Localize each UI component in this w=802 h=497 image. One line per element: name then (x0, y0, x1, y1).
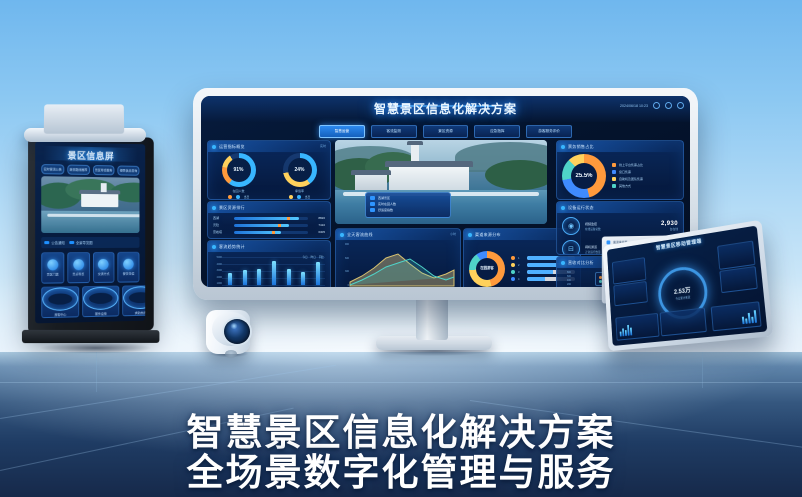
y-axis: 5000 4000 3000 2000 1000 (211, 256, 222, 285)
tooltip-row: 舒适度指数 (370, 208, 446, 212)
legend-row: 其他方式 (612, 184, 678, 188)
dashboard-title: 智慧景区信息化解决方案 (201, 100, 690, 117)
panel-title: 客流趋势统计 (219, 244, 245, 250)
gauge-value: 91% (233, 167, 243, 173)
kiosk-nav-item[interactable]: 便民信息查询 (118, 165, 140, 175)
scenic-photo: 西湖景区 实时在园人数 舒适度指数 (335, 140, 547, 224)
y-tick: 4000 (211, 263, 222, 266)
ticket-icon (47, 259, 58, 270)
panel-corner-label: 小时 (450, 232, 456, 236)
camera-icon: ◉ (562, 217, 580, 235)
donut-center-value: 25.5% (575, 173, 592, 179)
people-icon (370, 202, 375, 206)
legend-label: 当日 (305, 195, 311, 199)
tablet-sparkline (741, 309, 757, 324)
rank-row: 雷峰塔 6305 (213, 230, 325, 234)
comfort-icon (370, 208, 375, 212)
panel-realtime-overview: 运营指标概览 实时 91% 在园人数 当日 (207, 140, 331, 200)
panel-header: 运营指标概览 (208, 141, 330, 152)
row-index: 2 (518, 264, 524, 267)
tab-resources[interactable]: 景区资源 (423, 125, 469, 138)
camera-head (212, 312, 250, 346)
list-icon (44, 241, 49, 244)
kpi-sub: 在线设备总数 (585, 227, 601, 231)
status-dot-icon (212, 245, 216, 249)
gauge-sub: 在园人数 (232, 189, 244, 193)
kiosk-tile-label: 交通方式 (98, 272, 110, 276)
gauge-sub: 承载率 (295, 189, 304, 193)
kiosk-icon-grid-row1: 景区门票 景点导览 交通方式 餐饮住宿 (41, 252, 139, 284)
kiosk-nav-item[interactable]: 实时客流公告 (41, 164, 64, 175)
legend-row: 自助机及团队售票 (612, 177, 678, 181)
area-chart-svg (336, 240, 460, 287)
legend-swatch (289, 195, 293, 199)
kiosk-tile-label: 游客中心 (54, 313, 66, 317)
rank-row: 灵隐 7410 (213, 223, 325, 227)
rank-bar (234, 231, 308, 234)
bar-chart: 今日 昨日 同比 5000 4000 3000 2000 1000 (208, 252, 330, 287)
rank-name: 灵隐 (213, 223, 231, 227)
tooltip-title: 西湖景区 (378, 196, 390, 200)
tablet-card[interactable] (613, 281, 648, 306)
tablet-card[interactable] (660, 307, 707, 336)
tablet-card[interactable] (612, 257, 646, 284)
kiosk-nav-item[interactable]: 景区导览服务 (92, 165, 114, 175)
y-tick: 200 (560, 283, 571, 286)
floor-line (0, 382, 802, 383)
tablet-stand (44, 104, 124, 133)
tooltip-label: 舒适度指数 (378, 208, 393, 212)
kiosk-tile[interactable]: 求助热线 (122, 285, 145, 316)
panel-header: 票务销售占比 (557, 141, 683, 152)
kiosk-nav-item[interactable]: 游览路线推荐 (67, 165, 90, 175)
kpi-label: 视频监控 (585, 222, 601, 226)
photo-pagoda (411, 143, 419, 161)
camera-lens-icon (224, 319, 250, 344)
gauge-item: 24% 承载率 当日 (283, 153, 317, 199)
y-tick: 800 (560, 271, 571, 274)
rank-name: 雷峰塔 (213, 230, 231, 234)
photo-roof (407, 141, 423, 145)
monitor-neck (416, 296, 448, 340)
info-icon (42, 287, 78, 311)
panel-title: 景区资源排行 (219, 205, 245, 211)
photo-roof (351, 170, 391, 175)
panel-ticket-ratio: 票务销售占比 25.5% 线上平台售票占比 (556, 140, 684, 200)
legend-swatch (228, 195, 232, 199)
tooltip-row: 实时在园人数 (370, 202, 446, 206)
gauge-legend: 当日 (228, 195, 250, 199)
photo-roof (385, 161, 473, 167)
kiosk-tile-label: 餐饮住宿 (123, 272, 135, 276)
gauge-group: 91% 在园人数 当日 24% (208, 152, 330, 199)
y-tick: 1000 (211, 282, 222, 285)
rank-bar (234, 217, 308, 220)
legend-row: 窗口售票 (612, 170, 678, 174)
kiosk-screen: 景区信息屏 实时客流公告 游览路线推荐 景区导览服务 便民信息查询 (35, 142, 145, 324)
power-icon[interactable] (677, 102, 684, 109)
row-index: 4 (518, 278, 524, 281)
floor-line (96, 352, 97, 392)
status-dot-icon (212, 145, 216, 149)
legend-label: 其他方式 (619, 184, 653, 188)
status-dot-icon (561, 145, 565, 149)
status-dot-icon (468, 233, 472, 237)
hotel-icon (123, 259, 134, 270)
ticket-legend: 线上平台售票占比 窗口售票 自助机及团队售票 (612, 163, 678, 188)
kiosk-base (22, 330, 159, 343)
promo-scene: 景区信息屏 实时客流公告 游览路线推荐 景区导览服务 便民信息查询 (0, 0, 802, 497)
kiosk-icon-grid-row2: 游客中心 服务设施 求助热线 无线网络 (41, 285, 139, 318)
kiosk-tile-label: 求助热线 (135, 311, 146, 315)
tablet-card[interactable] (719, 266, 757, 293)
marker-icon (370, 196, 375, 200)
status-dot-icon (212, 206, 216, 210)
legend-label: 线上平台售票占比 (619, 163, 653, 167)
kiosk-tile[interactable]: 服务设施 (82, 286, 119, 318)
lens-glint (230, 323, 238, 329)
bars (223, 257, 325, 285)
kiosk-tabs[interactable]: 公告通知 全景导览图 (41, 237, 139, 248)
tooltip-title-row: 西湖景区 (370, 196, 446, 200)
panel-title: 渠道来源分布 (475, 232, 501, 238)
status-dot-icon (340, 233, 344, 237)
kiosk-tile-label: 服务设施 (95, 312, 107, 316)
legend-row: 线上平台售票占比 (612, 163, 678, 167)
phone-icon (123, 286, 145, 309)
rank-value: 7410 (311, 223, 325, 227)
kiosk-tab[interactable]: 公告通知 (44, 240, 65, 245)
rank-value: 6305 (311, 230, 325, 234)
user-icon[interactable] (653, 102, 660, 109)
panel-title: 票务销售占比 (568, 144, 594, 150)
rank-bar (234, 224, 308, 227)
y-tick: 5000 (211, 256, 222, 259)
kiosk-tile[interactable]: 景区门票 (41, 252, 64, 284)
photo-tooltip: 西湖景区 实时在园人数 舒适度指数 (365, 192, 451, 218)
kpi-numbers: 2,930 台在线 (661, 221, 678, 231)
donut-gauge: 24% (283, 153, 317, 187)
headline-line-2: 全场景数字化管理与服务 (0, 453, 802, 493)
kpi-unit: 台在线 (661, 227, 678, 231)
tablet-body: 智慧景区移动管理端 2.53万 今日累计客流 (602, 220, 773, 352)
kiosk-tile-label: 景点导览 (72, 272, 84, 276)
photo-trees (485, 160, 547, 190)
security-camera (203, 298, 253, 356)
panel-resource-rank: 景区资源排行 西湖 8820 灵隐 7410 (207, 201, 331, 239)
kiosk-tile[interactable]: 游客中心 (41, 286, 79, 318)
panel-corner-label: 实时 (320, 144, 326, 148)
floor-line (702, 352, 703, 388)
rank-value: 8820 (311, 216, 325, 220)
kiosk-tile-label: 景区门票 (47, 272, 59, 276)
ring-sub: 今日累计客流 (675, 295, 690, 301)
dashboard-nav[interactable]: 智慧运营 客流监测 景区资源 应急指挥 游客服务评价 (319, 125, 572, 138)
kiosk-tile[interactable]: 景点导览 (67, 252, 90, 283)
status-dot-icon (561, 206, 565, 210)
legend-swatch (297, 195, 301, 199)
tablet-screen: 智慧景区移动管理端 2.53万 今日累计客流 (607, 226, 768, 346)
tooltip-label: 实时在园人数 (378, 202, 396, 206)
kiosk-tab[interactable]: 全景导览图 (69, 240, 93, 245)
panel-title: 设备运行状态 (568, 205, 594, 211)
clock-text: 2024/06/18 10:23 (620, 104, 648, 108)
panel-header: 全天客流曲线 (336, 229, 460, 240)
donut-gauge: 91% (222, 153, 256, 187)
tablet-card[interactable] (717, 240, 755, 269)
y-tick: 3000 (211, 269, 222, 272)
headline-block: 智慧景区信息化解决方案 全场景数字化管理与服务 (0, 413, 802, 493)
kiosk-tile[interactable]: 交通方式 (92, 252, 114, 283)
grid-icon (69, 241, 74, 244)
panel-title: 全天客流曲线 (347, 232, 373, 238)
tablet-device[interactable]: 智慧景区移动管理端 2.53万 今日累计客流 (596, 232, 768, 344)
panel-flow-curve: 全天客流曲线 小时 900 600 300 0 (335, 228, 461, 287)
tablet-sparkline (619, 323, 632, 337)
kiosk-scenic-photo (41, 176, 139, 233)
channel-donut: 在园游客 (469, 251, 505, 287)
ticket-donut: 25.5% (562, 154, 606, 198)
gauge-item: 91% 在园人数 当日 (222, 153, 256, 199)
panel-header: 客流趋势统计 (208, 241, 330, 252)
kiosk-tile[interactable]: 餐饮住宿 (118, 252, 140, 283)
panel-header: 设备运行状态 (557, 202, 683, 213)
ticket-donut-legend: 25.5% 线上平台售票占比 窗口售票 (557, 152, 683, 199)
legend-label: 窗口售票 (619, 170, 653, 174)
photo-building (389, 166, 469, 192)
row-index: 3 (518, 271, 524, 274)
y-tick: 400 (560, 279, 571, 282)
y-axis: 800 600 400 200 (560, 271, 571, 286)
rank-row: 西湖 8820 (213, 216, 325, 220)
kiosk-tab-label: 全景导览图 (76, 240, 93, 245)
headline-line-1: 智慧景区信息化解决方案 (0, 413, 802, 453)
y-tick: 2000 (211, 276, 222, 279)
map-icon (73, 259, 84, 270)
y-tick: 600 (560, 275, 571, 278)
gate-icon: ⊟ (562, 240, 580, 255)
camera-badge (225, 350, 237, 358)
kiosk-nav[interactable]: 实时客流公告 游览路线推荐 景区导览服务 便民信息查询 (41, 164, 139, 176)
camera-body (206, 310, 250, 354)
gauge-value: 24% (294, 167, 304, 173)
tab-visitor-flow[interactable]: 客流监测 (371, 125, 417, 138)
gear-icon[interactable] (665, 102, 672, 109)
panel-header: 景区资源排行 (208, 202, 330, 213)
panel-title: 营收对比分析 (568, 260, 594, 266)
bus-icon (98, 259, 109, 270)
tab-emergency[interactable]: 应急指挥 (474, 125, 520, 138)
legend-label: 自助机及团队售票 (619, 177, 653, 181)
tab-service-rating[interactable]: 游客服务评价 (526, 125, 572, 138)
wc-icon (83, 287, 118, 311)
rank-rows: 西湖 8820 灵隐 7410 雷峰塔 6305 (208, 213, 330, 237)
legend-swatch (236, 195, 240, 199)
kiosk-display[interactable]: 景区信息屏 实时客流公告 游览路线推荐 景区导览服务 便民信息查询 (28, 134, 154, 333)
kiosk-tab-label: 公告通知 (51, 240, 65, 245)
row-index: 1 (518, 257, 524, 260)
rank-name: 西湖 (213, 216, 231, 220)
tab-operations[interactable]: 智慧运营 (319, 125, 365, 138)
panel-title: 运营指标概览 (219, 144, 245, 150)
kpi-text: 视频监控 在线设备总数 (585, 222, 601, 231)
dashboard-meta: 2024/06/18 10:23 (620, 102, 684, 109)
status-dot-icon (561, 261, 565, 265)
gauge-legend: 当日 (289, 195, 311, 199)
panel-visitor-trend: 客流趋势统计 今日 昨日 同比 5000 4000 (207, 240, 331, 287)
area-chart: 900 600 300 0 08:00 10:00 12:00 (336, 240, 460, 287)
legend-label: 当日 (244, 195, 250, 199)
donut-center-text: 在园游客 (480, 266, 494, 270)
